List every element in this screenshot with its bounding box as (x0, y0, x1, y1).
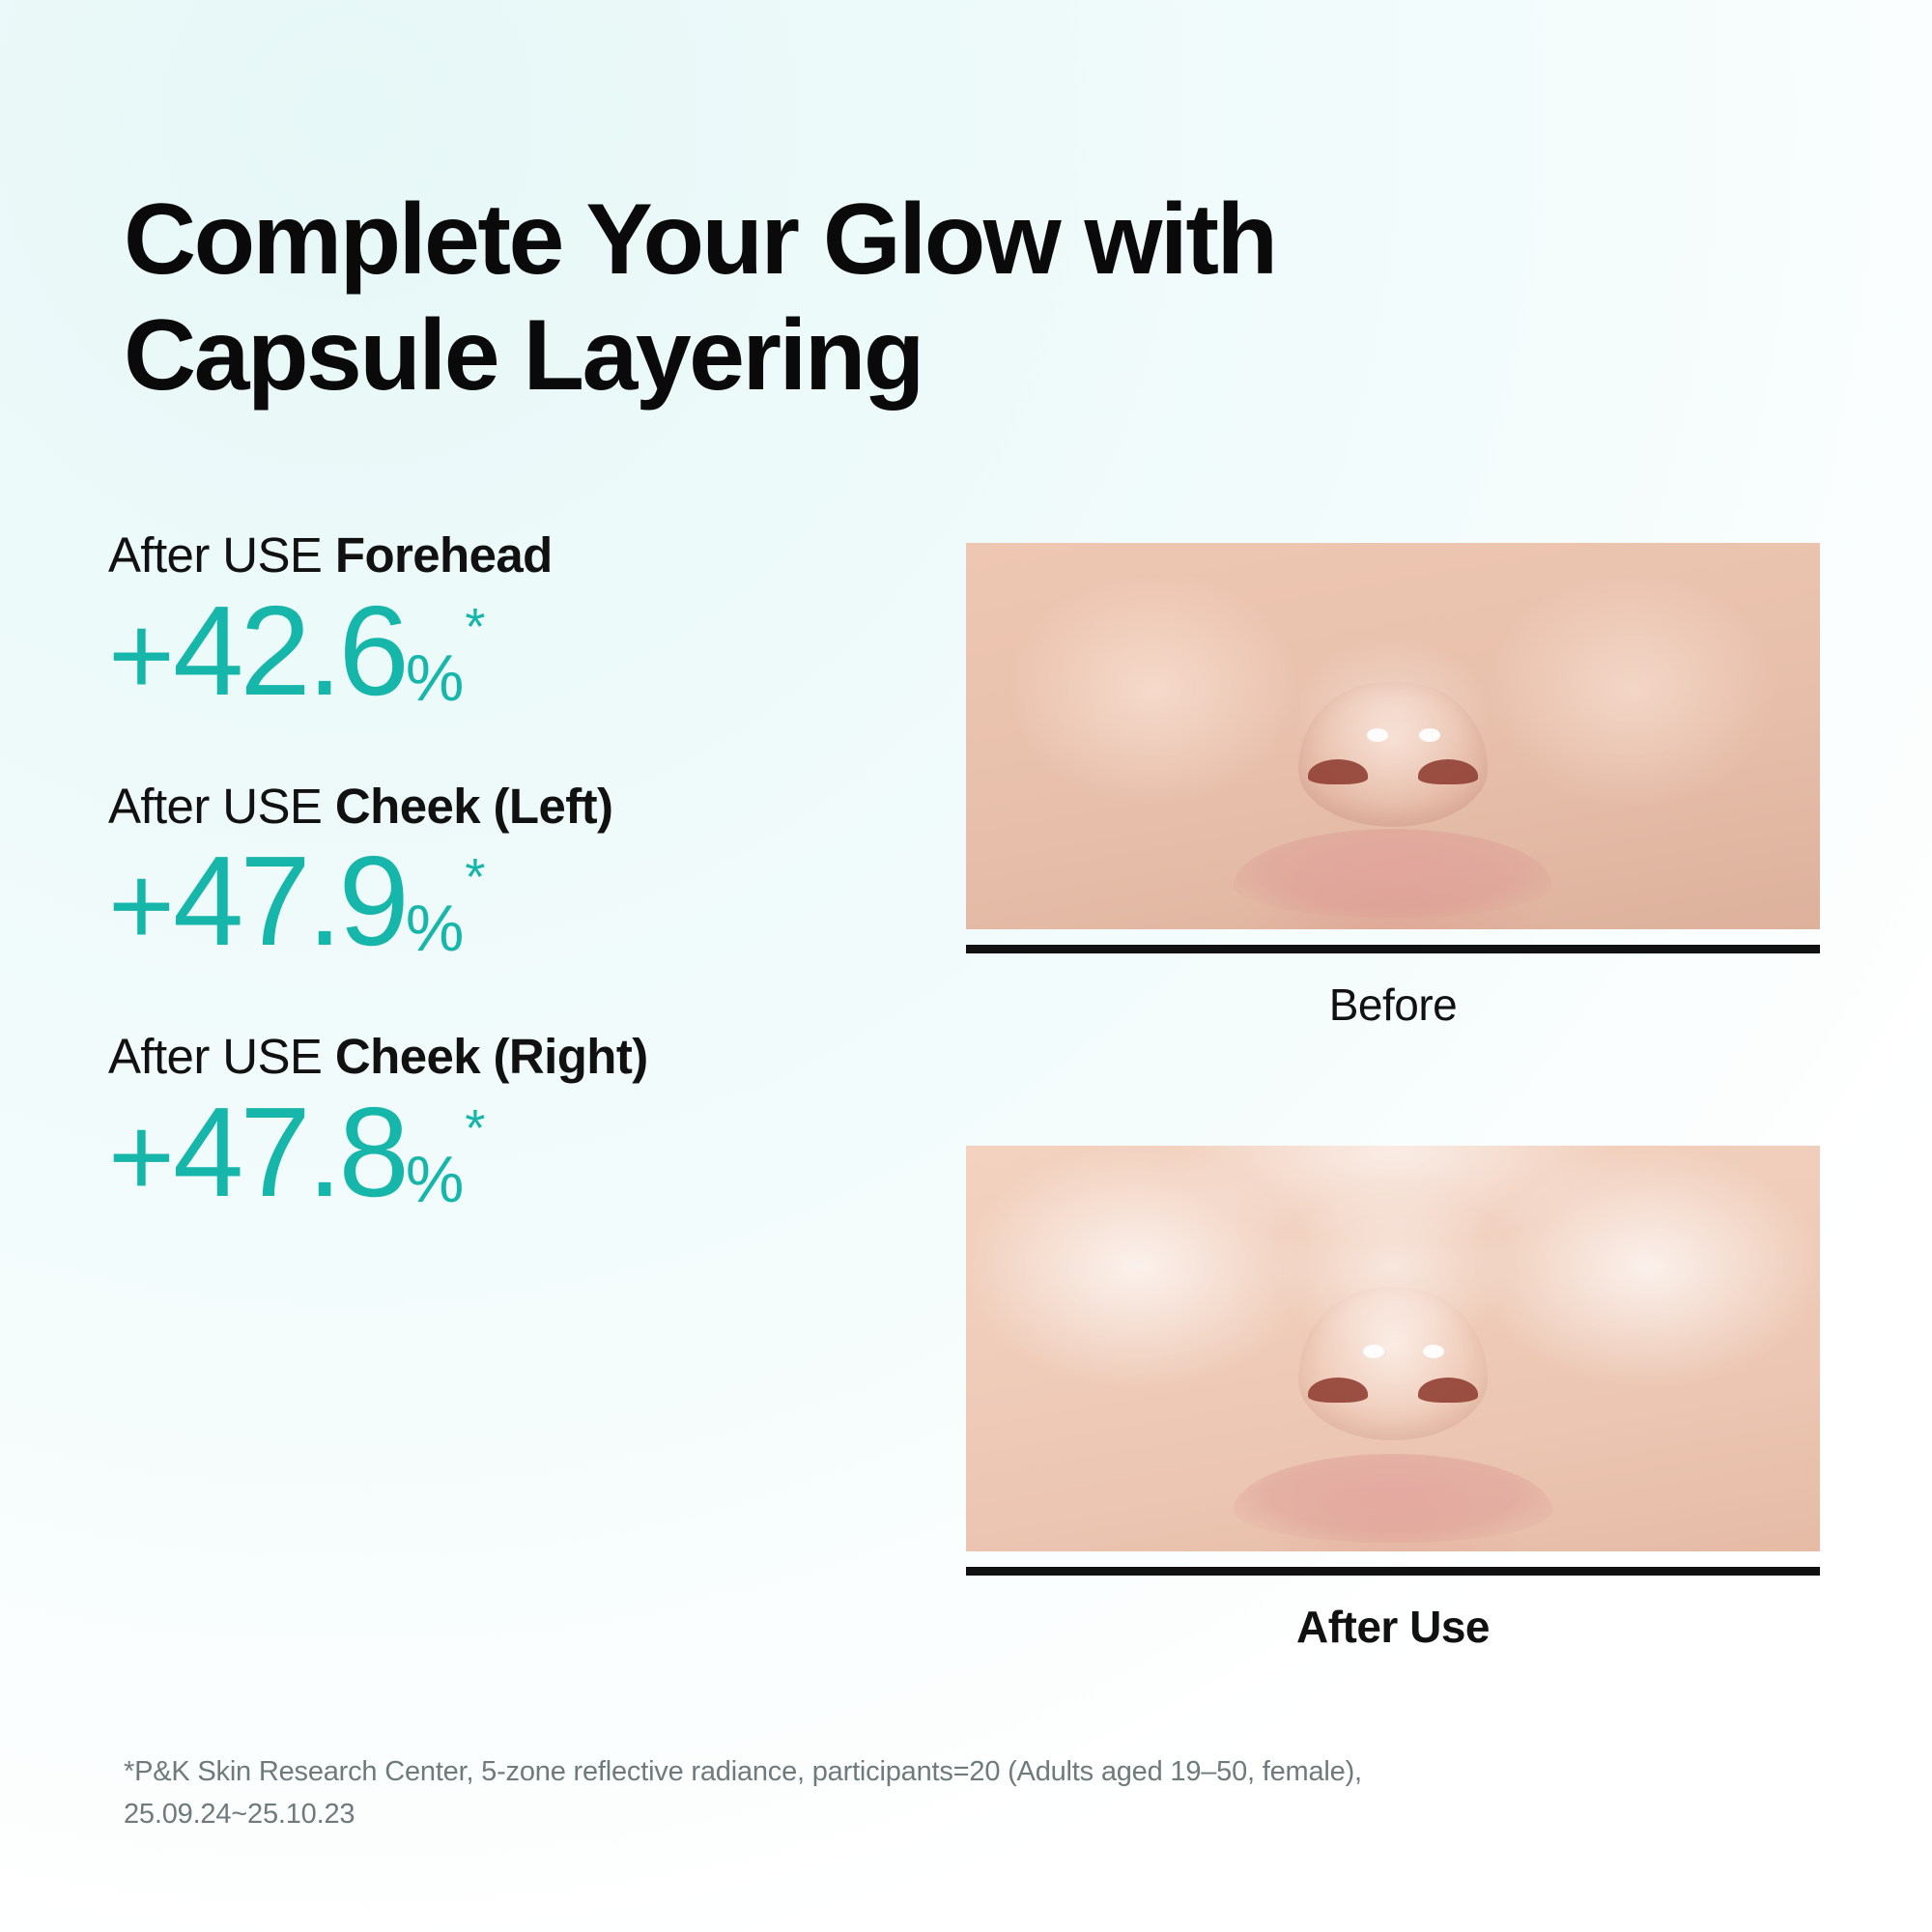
stat-item-cheek-right: After USE Cheek (Right) +47.8%* (108, 1031, 920, 1216)
stat-item-cheek-left: After USE Cheek (Left) +47.9%* (108, 781, 920, 966)
stat-label-cheek-right: After USE Cheek (Right) (108, 1031, 920, 1083)
before-block: Before (966, 543, 1820, 1032)
nose-highlight-right-before (1419, 728, 1440, 742)
stat-value-forehead: +42.6%* (108, 587, 920, 715)
nose-highlight-left-after (1363, 1345, 1384, 1358)
after-photo (966, 1146, 1820, 1551)
stat-unit: % (406, 892, 463, 965)
footnote-line-1: *P&K Skin Research Center, 5-zone reflec… (124, 1756, 1362, 1787)
footnote-line-2: 25.09.24~25.10.23 (124, 1793, 1747, 1835)
stat-label-cheek-left: After USE Cheek (Left) (108, 781, 920, 833)
stat-footnote-marker: * (465, 1099, 485, 1157)
before-photo (966, 543, 1820, 929)
stat-label-zone: Cheek (Left) (335, 779, 613, 834)
stat-number: 47.9 (173, 830, 406, 972)
stat-sign: + (108, 592, 173, 720)
after-block: After Use (966, 1146, 1820, 1654)
stat-item-forehead: After USE Forehead +42.6%* (108, 529, 920, 715)
stat-unit: % (406, 1143, 463, 1216)
page-title-line-2: Capsule Layering (124, 298, 1573, 414)
stat-value-cheek-left: +47.9%* (108, 838, 920, 965)
stat-sign: + (108, 842, 173, 970)
stat-footnote-marker: * (465, 598, 485, 656)
before-caption: Before (966, 979, 1820, 1032)
promo-poster: Complete Your Glow with Capsule Layering… (0, 0, 1932, 1932)
stat-number: 47.8 (173, 1081, 406, 1223)
stat-footnote-marker: * (465, 848, 485, 906)
stat-value-cheek-right: +47.8%* (108, 1089, 920, 1216)
page-title: Complete Your Glow with Capsule Layering (124, 182, 1573, 414)
stat-label-forehead: After USE Forehead (108, 529, 920, 582)
before-divider-rule (966, 945, 1820, 953)
stat-number: 42.6 (173, 580, 406, 722)
stat-sign: + (108, 1094, 173, 1221)
stat-label-zone: Forehead (335, 527, 553, 582)
nose-highlight-right-after (1423, 1345, 1444, 1358)
before-after-comparison: Before After Use (966, 543, 1820, 1654)
stat-label-prefix: After USE (108, 1029, 335, 1084)
after-caption: After Use (966, 1601, 1820, 1654)
stat-unit: % (406, 641, 463, 715)
after-divider-rule (966, 1567, 1820, 1576)
footnote: *P&K Skin Research Center, 5-zone reflec… (124, 1750, 1747, 1835)
stat-label-prefix: After USE (108, 527, 335, 582)
stat-label-prefix: After USE (108, 779, 335, 834)
page-title-line-1: Complete Your Glow with (124, 182, 1573, 298)
stat-label-zone: Cheek (Right) (335, 1029, 648, 1084)
stat-list: After USE Forehead +42.6%* After USE Che… (108, 529, 920, 1216)
